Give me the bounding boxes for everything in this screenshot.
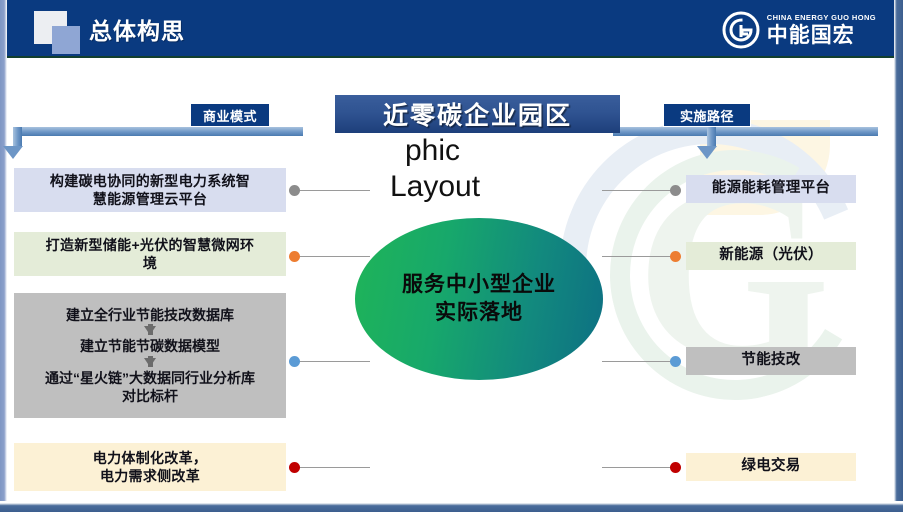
overlay-text-line1: phic [405,133,480,169]
dot-left-3 [289,356,300,367]
tab-business-model[interactable]: 商业模式 [190,103,270,127]
left-item-2-line2: 境 [143,254,157,272]
banner-title-text: 近零碳企业园区 [383,96,572,132]
flow-step-3-line1: 通过“星火链”大数据同行业分析库 [45,369,255,387]
frame-right-border [894,0,903,512]
dot-right-2 [670,251,681,262]
left-elbow-stem [13,127,22,147]
logo-english-name: CHINA ENERGY GUO HONG [767,14,876,22]
down-arrow-icon-2 [144,358,156,367]
left-item-4-line2: 电力需求侧改革 [100,467,200,485]
frame-left-border [0,0,7,512]
overlay-text-block: phic Layout [405,133,480,205]
right-elbow-bar [613,127,878,136]
left-item-1-line2: 慧能源管理云平台 [93,190,207,208]
left-elbow-bar [13,127,303,136]
dot-right-4 [670,462,681,473]
dot-right-1 [670,185,681,196]
right-item-4-label: 绿电交易 [741,457,800,476]
left-item-3[interactable]: 建立全行业节能技改数据库 建立节能节碳数据模型 通过“星火链”大数据同行业分析库… [14,293,286,418]
slide-header: 总体构思 CHINA ENERGY GUO HONG 中能国宏 [7,0,894,58]
banner-title-box: 近零碳企业园区 [335,95,620,133]
left-item-4-line1: 电力体制化改革， [93,449,207,467]
left-item-1[interactable]: 构建碳电协同的新型电力系统智 慧能源管理云平台 [14,168,286,212]
right-item-4[interactable]: 绿电交易 [686,453,856,481]
overlay-text-line2: Layout [390,169,480,205]
right-item-2[interactable]: 新能源（光伏） [686,242,856,270]
connector-line-left-1 [292,190,370,191]
connector-line-left-3 [292,361,370,362]
connector-line-right-2 [602,256,680,257]
header-square-front-icon [52,26,80,54]
center-ellipse-line2: 实际落地 [435,299,523,327]
right-item-2-label: 新能源（光伏） [719,246,823,265]
connector-line-left-2 [292,256,370,257]
right-item-1[interactable]: 能源能耗管理平台 [686,175,856,203]
tab-implementation-path-label: 实施路径 [680,106,734,125]
dot-left-1 [289,185,300,196]
right-elbow-stem [707,127,716,147]
circle-g-logo-icon [722,11,760,49]
right-item-3[interactable]: 节能技改 [686,347,856,375]
center-ellipse: 服务中小型企业 实际落地 [355,218,603,380]
flow-step-3-line2: 对比标杆 [122,387,178,405]
left-item-2-line1: 打造新型储能+光伏的智慧微网环 [46,236,255,254]
dot-right-3 [670,356,681,367]
page-title: 总体构思 [89,12,185,46]
connector-line-right-1 [602,190,680,191]
flow-step-1: 建立全行业节能技改数据库 [66,306,234,324]
frame-bottom-border [0,503,903,512]
right-item-3-label: 节能技改 [741,351,800,370]
slide-canvas: G 总体构思 CHINA ENERGY GUO HONG 中能国宏 [0,0,903,512]
connector-line-right-3 [602,361,680,362]
dot-left-4 [289,462,300,473]
right-item-1-label: 能源能耗管理平台 [712,179,830,198]
connector-line-left-4 [292,467,370,468]
logo-chinese-name: 中能国宏 [767,25,876,46]
tab-business-model-label: 商业模式 [203,106,257,125]
right-arrow-icon [697,146,717,159]
connector-line-right-4 [602,467,680,468]
left-item-1-line1: 构建碳电协同的新型电力系统智 [50,172,250,190]
left-arrow-icon [3,146,23,159]
center-ellipse-line1: 服务中小型企业 [402,271,556,299]
tab-implementation-path[interactable]: 实施路径 [663,103,751,127]
flow-step-2: 建立节能节碳数据模型 [80,337,220,355]
company-logo: CHINA ENERGY GUO HONG 中能国宏 [722,8,876,52]
logo-text: CHINA ENERGY GUO HONG 中能国宏 [767,14,876,46]
dot-left-2 [289,251,300,262]
left-item-4[interactable]: 电力体制化改革， 电力需求侧改革 [14,443,286,491]
left-item-2[interactable]: 打造新型储能+光伏的智慧微网环 境 [14,232,286,276]
down-arrow-icon-1 [144,326,156,335]
